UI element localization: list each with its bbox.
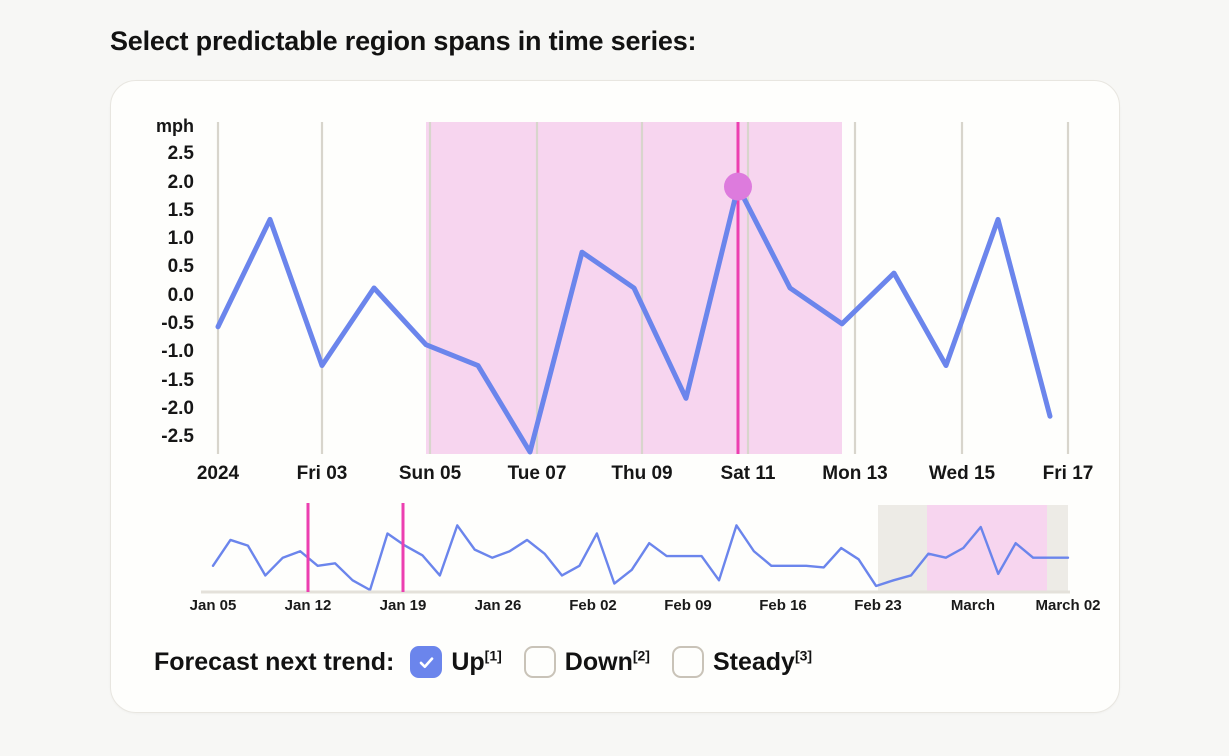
x-axis-tick: Wed 15 bbox=[929, 463, 995, 485]
mini-chart-x-axis-labels: Jan 05Jan 12Jan 19Jan 26Feb 02Feb 09Feb … bbox=[0, 597, 1229, 619]
x-axis-labels: 2024Fri 03Sun 05Tue 07Thu 09Sat 11Mon 13… bbox=[0, 463, 1229, 491]
x-axis-tick: Mon 13 bbox=[822, 463, 887, 485]
y-axis-tick: 2.5 bbox=[132, 144, 194, 172]
option-up-label: Up[1] bbox=[451, 648, 501, 677]
page-title: Select predictable region spans in time … bbox=[110, 26, 696, 57]
x-axis-tick: 2024 bbox=[197, 463, 239, 485]
mini-chart-x-axis-tick: Jan 19 bbox=[380, 597, 427, 614]
y-axis-tick: 2.0 bbox=[132, 173, 194, 201]
checkbox-up[interactable] bbox=[410, 646, 442, 678]
y-axis-tick: 0.5 bbox=[132, 257, 194, 285]
x-axis-tick: Fri 03 bbox=[297, 463, 348, 485]
x-axis-tick: Tue 07 bbox=[508, 463, 567, 485]
y-axis-tick: 0.0 bbox=[132, 286, 194, 314]
mini-chart-x-axis-tick: March 02 bbox=[1035, 597, 1100, 614]
mini-chart-x-axis-tick: Jan 05 bbox=[190, 597, 237, 614]
x-axis-tick: Thu 09 bbox=[611, 463, 672, 485]
mini-chart-x-axis-tick: Jan 26 bbox=[475, 597, 522, 614]
mini-chart-x-axis-tick: Feb 16 bbox=[759, 597, 807, 614]
y-axis-tick: 1.5 bbox=[132, 201, 194, 229]
option-down[interactable]: Down[2] bbox=[524, 646, 650, 678]
mini-chart-x-axis-tick: March bbox=[951, 597, 995, 614]
option-down-label: Down[2] bbox=[565, 648, 650, 677]
checkbox-down[interactable] bbox=[524, 646, 556, 678]
mini-chart-x-axis-tick: Feb 02 bbox=[569, 597, 617, 614]
option-steady-label: Steady[3] bbox=[713, 648, 812, 677]
option-steady[interactable]: Steady[3] bbox=[672, 646, 812, 678]
app-root: Select predictable region spans in time … bbox=[0, 0, 1229, 756]
forecast-controls: Forecast next trend: Up[1] Down[2] Stead… bbox=[154, 646, 834, 678]
x-axis-tick: Sat 11 bbox=[721, 463, 776, 485]
y-axis-tick: -0.5 bbox=[132, 314, 194, 342]
y-axis-tick: -1.0 bbox=[132, 342, 194, 370]
y-axis-tick: 1.0 bbox=[132, 229, 194, 257]
x-axis-tick: Sun 05 bbox=[399, 463, 461, 485]
y-axis-labels: mph2.52.01.51.00.50.0-0.5-1.0-1.5-2.0-2.… bbox=[132, 116, 194, 456]
x-axis-tick: Fri 17 bbox=[1043, 463, 1094, 485]
mini-chart-x-axis-tick: Feb 23 bbox=[854, 597, 902, 614]
y-axis-tick: -2.5 bbox=[132, 427, 194, 455]
mini-chart-x-axis-tick: Feb 09 bbox=[664, 597, 712, 614]
checkbox-steady[interactable] bbox=[672, 646, 704, 678]
y-axis-unit: mph bbox=[132, 116, 194, 144]
check-icon bbox=[418, 654, 435, 671]
y-axis-tick: -1.5 bbox=[132, 371, 194, 399]
y-axis-tick: -2.0 bbox=[132, 399, 194, 427]
mini-chart-x-axis-tick: Jan 12 bbox=[285, 597, 332, 614]
forecast-label: Forecast next trend: bbox=[154, 648, 394, 677]
option-up[interactable]: Up[1] bbox=[410, 646, 501, 678]
